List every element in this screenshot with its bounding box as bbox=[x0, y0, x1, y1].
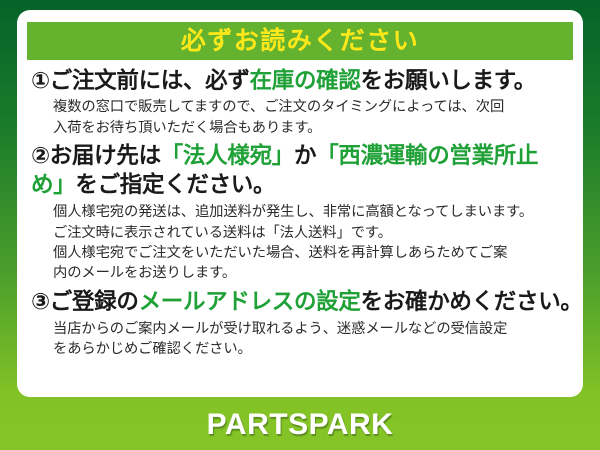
notice-item-2-heading: ②お届け先は「法人様宛」か「西濃運輸の営業所止め」をご指定ください。 bbox=[31, 141, 571, 200]
notice-item-2-heading-highlight-1: 「法人様宛」 bbox=[161, 143, 294, 168]
notice-item-2: ②お届け先は「法人様宛」か「西濃運輸の営業所止め」をご指定ください。 個人様宅宛… bbox=[31, 141, 571, 284]
notice-item-2-marker: ② bbox=[31, 143, 50, 168]
notice-item-1-heading-pre: ご注文前には、必ず bbox=[50, 68, 250, 93]
notice-item-1: ①ご注文前には、必ず在庫の確認をお願いします。 複数の窓口で販売してますので、ご… bbox=[31, 66, 571, 138]
header-bar: 必ずお読みください bbox=[27, 22, 573, 60]
notice-item-3: ③ご登録のメールアドレスの設定をお確かめください。 当店からのご案内メールが受け… bbox=[31, 287, 571, 360]
notice-item-3-marker: ③ bbox=[31, 289, 50, 314]
notice-item-1-marker: ① bbox=[31, 68, 50, 93]
notice-item-3-heading-pre: ご登録の bbox=[50, 289, 139, 314]
notice-item-1-body: 複数の窓口で販売してますので、ご注文のタイミングによっては、次回 入荷をお待ち頂… bbox=[53, 97, 571, 138]
notice-banner: 必ずお読みください ①ご注文前には、必ず在庫の確認をお願いします。 複数の窓口で… bbox=[0, 0, 600, 450]
notice-item-2-heading-post: をご指定ください。 bbox=[75, 172, 275, 197]
notice-item-3-heading: ③ご登録のメールアドレスの設定をお確かめください。 bbox=[31, 287, 571, 316]
notice-item-3-body: 当店からのご案内メールが受け取れるよう、迷惑メールなどの受信設定 をあらかじめご… bbox=[53, 319, 571, 360]
notice-item-3-heading-highlight: メールアドレスの設定 bbox=[139, 289, 361, 314]
notice-item-2-body: 個人様宅宛の発送は、追加送料が発生し、非常に高額となってしまいます。 ご注文時に… bbox=[53, 202, 571, 283]
notice-item-2-heading-mid: か bbox=[294, 143, 316, 168]
header-title: 必ずお読みください bbox=[181, 29, 420, 54]
notice-item-1-heading-highlight: 在庫の確認 bbox=[250, 68, 361, 93]
notice-item-3-heading-post: をお確かめください。 bbox=[361, 289, 583, 314]
notice-item-1-heading: ①ご注文前には、必ず在庫の確認をお願いします。 bbox=[31, 66, 571, 95]
notice-list: ①ご注文前には、必ず在庫の確認をお願いします。 複数の窓口で販売してますので、ご… bbox=[17, 66, 583, 362]
footer-logo: PARTSPARK bbox=[0, 408, 600, 442]
notice-card: 必ずお読みください ①ご注文前には、必ず在庫の確認をお願いします。 複数の窓口で… bbox=[17, 10, 583, 397]
notice-item-1-heading-post: をお願いします。 bbox=[361, 68, 536, 93]
notice-item-2-heading-pre: お届け先は bbox=[50, 143, 161, 168]
brand-wordmark: PARTSPARK bbox=[207, 408, 394, 442]
